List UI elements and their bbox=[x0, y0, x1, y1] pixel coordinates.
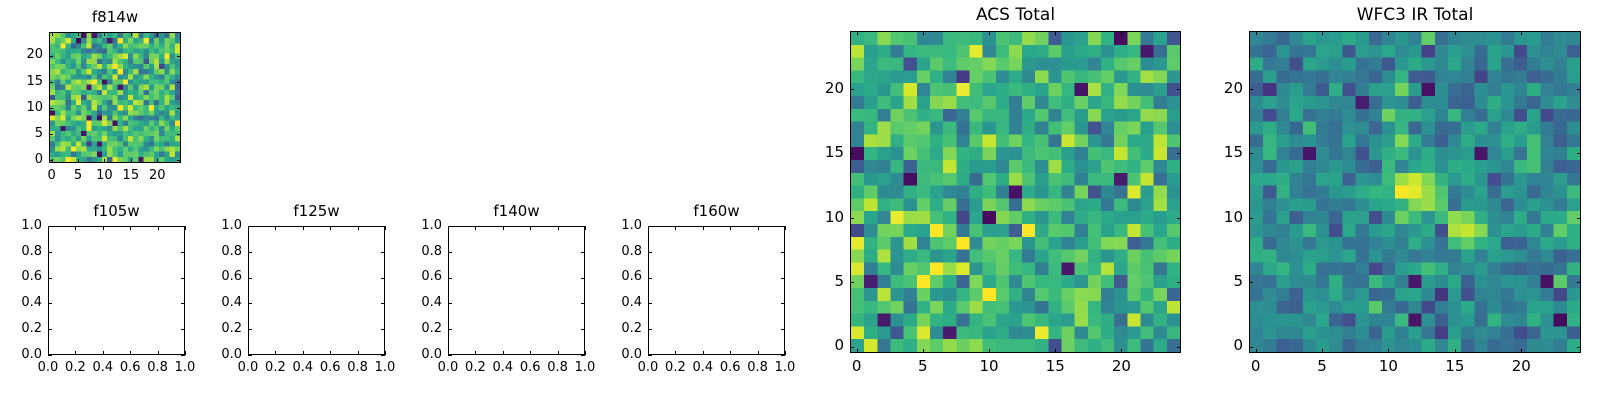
y-tickmark bbox=[381, 329, 385, 330]
y-tick-label: 5 bbox=[0, 127, 43, 140]
y-tickmark bbox=[850, 153, 854, 154]
y-tick-label: 1.0 bbox=[0, 219, 42, 232]
y-tickmark bbox=[648, 252, 652, 253]
y-tickmark bbox=[181, 252, 185, 253]
y-tickmark bbox=[781, 278, 785, 279]
y-tickmark bbox=[177, 82, 181, 83]
y-tick-label: 0.6 bbox=[192, 270, 242, 283]
x-tick-label: 20 bbox=[1496, 359, 1546, 374]
x-tickmark bbox=[475, 351, 476, 355]
x-tickmark bbox=[1322, 31, 1323, 35]
y-tickmark bbox=[381, 278, 385, 279]
x-tickmark bbox=[1521, 349, 1522, 353]
y-tickmark bbox=[49, 108, 53, 109]
y-tickmark bbox=[850, 282, 854, 283]
x-tick-label: 1.0 bbox=[160, 361, 210, 374]
x-tickmark bbox=[475, 226, 476, 230]
x-tickmark bbox=[1388, 349, 1389, 353]
heatmap-image-f814w bbox=[50, 33, 180, 162]
y-tick-label: 1.0 bbox=[192, 219, 242, 232]
x-tickmark bbox=[157, 159, 158, 163]
x-tickmark bbox=[857, 349, 858, 353]
y-tick-label: 15 bbox=[0, 75, 43, 88]
y-tickmark bbox=[48, 252, 52, 253]
y-tick-label: 15 bbox=[1193, 145, 1243, 160]
y-tickmark bbox=[1177, 153, 1181, 154]
subplot-title-f140w: f140w bbox=[448, 204, 585, 219]
x-tickmark bbox=[104, 32, 105, 36]
y-tickmark bbox=[781, 329, 785, 330]
x-tick-label: 10 bbox=[964, 359, 1014, 374]
x-tick-label: 5 bbox=[1297, 359, 1347, 374]
x-tickmark bbox=[503, 226, 504, 230]
y-tick-label: 0.4 bbox=[392, 296, 442, 309]
x-tickmark bbox=[275, 351, 276, 355]
y-tickmark bbox=[181, 226, 185, 227]
y-tickmark bbox=[49, 160, 53, 161]
y-tickmark bbox=[781, 355, 785, 356]
x-tickmark bbox=[385, 351, 386, 355]
y-tickmark bbox=[1577, 153, 1581, 154]
y-tickmark bbox=[1577, 218, 1581, 219]
y-tickmark bbox=[248, 226, 252, 227]
y-tickmark bbox=[48, 355, 52, 356]
x-tickmark bbox=[78, 32, 79, 36]
y-tickmark bbox=[177, 56, 181, 57]
x-tickmark bbox=[330, 351, 331, 355]
y-tickmark bbox=[177, 108, 181, 109]
x-tickmark bbox=[75, 226, 76, 230]
y-tick-label: 0.2 bbox=[392, 322, 442, 335]
heatmap-image-wfc3-ir-total bbox=[1250, 32, 1580, 352]
axes-f160w bbox=[648, 226, 785, 355]
y-tickmark bbox=[48, 226, 52, 227]
x-tickmark bbox=[1121, 31, 1122, 35]
y-tickmark bbox=[850, 347, 854, 348]
subplot-title-f125w: f125w bbox=[248, 204, 385, 219]
subplot-title-f105w: f105w bbox=[48, 204, 185, 219]
y-tickmark bbox=[1249, 89, 1253, 90]
axes-f140w bbox=[448, 226, 585, 355]
y-tickmark bbox=[181, 278, 185, 279]
y-tick-label: 20 bbox=[1193, 81, 1243, 96]
x-tickmark bbox=[104, 159, 105, 163]
y-tickmark bbox=[581, 278, 585, 279]
x-tickmark bbox=[303, 226, 304, 230]
x-tickmark bbox=[52, 32, 53, 36]
y-tick-label: 5 bbox=[1193, 274, 1243, 289]
y-tickmark bbox=[1249, 153, 1253, 154]
x-tickmark bbox=[703, 226, 704, 230]
x-tickmark bbox=[558, 351, 559, 355]
y-tickmark bbox=[448, 355, 452, 356]
y-tick-label: 0.0 bbox=[0, 348, 42, 361]
x-tickmark bbox=[1521, 31, 1522, 35]
y-tickmark bbox=[1577, 347, 1581, 348]
y-tick-label: 10 bbox=[0, 101, 43, 114]
y-tickmark bbox=[850, 218, 854, 219]
y-tickmark bbox=[1577, 89, 1581, 90]
y-tick-label: 0.2 bbox=[192, 322, 242, 335]
axes-f814w bbox=[49, 32, 181, 163]
x-tickmark bbox=[1055, 31, 1056, 35]
y-tickmark bbox=[448, 278, 452, 279]
y-tick-label: 10 bbox=[1193, 210, 1243, 225]
x-tickmark bbox=[158, 226, 159, 230]
y-tickmark bbox=[1249, 347, 1253, 348]
y-tickmark bbox=[181, 303, 185, 304]
y-tickmark bbox=[581, 226, 585, 227]
y-tickmark bbox=[381, 252, 385, 253]
x-tickmark bbox=[185, 226, 186, 230]
x-tickmark bbox=[330, 226, 331, 230]
y-tickmark bbox=[49, 134, 53, 135]
y-tickmark bbox=[781, 252, 785, 253]
y-tickmark bbox=[49, 56, 53, 57]
y-tick-label: 1.0 bbox=[392, 219, 442, 232]
x-tickmark bbox=[385, 226, 386, 230]
y-tickmark bbox=[248, 252, 252, 253]
y-tickmark bbox=[48, 278, 52, 279]
x-tickmark bbox=[675, 351, 676, 355]
y-tickmark bbox=[1177, 218, 1181, 219]
x-tick-label: 1.0 bbox=[760, 361, 810, 374]
y-tick-label: 0.0 bbox=[192, 348, 242, 361]
y-tickmark bbox=[448, 252, 452, 253]
y-tick-label: 0.4 bbox=[192, 296, 242, 309]
x-tickmark bbox=[758, 351, 759, 355]
y-tickmark bbox=[177, 134, 181, 135]
x-tick-label: 10 bbox=[1363, 359, 1413, 374]
y-tick-label: 0 bbox=[794, 338, 844, 353]
y-tickmark bbox=[648, 355, 652, 356]
y-tickmark bbox=[48, 329, 52, 330]
y-tickmark bbox=[581, 329, 585, 330]
x-tickmark bbox=[103, 351, 104, 355]
y-tick-label: 0.8 bbox=[392, 245, 442, 258]
x-tickmark bbox=[1455, 31, 1456, 35]
y-tickmark bbox=[248, 329, 252, 330]
x-tickmark bbox=[503, 351, 504, 355]
y-tickmark bbox=[248, 303, 252, 304]
y-tick-label: 15 bbox=[794, 145, 844, 160]
y-tickmark bbox=[781, 303, 785, 304]
x-tickmark bbox=[1256, 31, 1257, 35]
x-tickmark bbox=[585, 226, 586, 230]
x-tickmark bbox=[78, 159, 79, 163]
x-tickmark bbox=[530, 226, 531, 230]
y-tickmark bbox=[1249, 218, 1253, 219]
x-tickmark bbox=[989, 31, 990, 35]
x-tickmark bbox=[530, 351, 531, 355]
x-tickmark bbox=[75, 351, 76, 355]
y-tickmark bbox=[648, 278, 652, 279]
x-tickmark bbox=[358, 226, 359, 230]
subplot-title-wfc3-ir-total: WFC3 IR Total bbox=[1249, 7, 1581, 24]
x-tick-label: 1.0 bbox=[560, 361, 610, 374]
x-tickmark bbox=[130, 226, 131, 230]
y-tick-label: 0.4 bbox=[592, 296, 642, 309]
heatmap-image-acs-total bbox=[851, 32, 1180, 352]
y-tickmark bbox=[448, 303, 452, 304]
x-tick-label: 1.0 bbox=[360, 361, 410, 374]
y-tick-label: 0.4 bbox=[0, 296, 42, 309]
x-tickmark bbox=[185, 351, 186, 355]
y-tickmark bbox=[181, 355, 185, 356]
y-tick-label: 20 bbox=[0, 48, 43, 61]
x-tickmark bbox=[275, 226, 276, 230]
x-tickmark bbox=[730, 351, 731, 355]
y-tickmark bbox=[648, 226, 652, 227]
subplot-title-f160w: f160w bbox=[648, 204, 785, 219]
y-tick-label: 0.6 bbox=[592, 270, 642, 283]
x-tickmark bbox=[130, 351, 131, 355]
x-tickmark bbox=[157, 32, 158, 36]
axes-f105w bbox=[48, 226, 185, 355]
x-tickmark bbox=[131, 32, 132, 36]
y-tick-label: 0.8 bbox=[192, 245, 242, 258]
x-tickmark bbox=[730, 226, 731, 230]
y-tickmark bbox=[448, 329, 452, 330]
y-tick-label: 0.6 bbox=[392, 270, 442, 283]
y-tickmark bbox=[49, 82, 53, 83]
x-tickmark bbox=[358, 351, 359, 355]
axes-wfc3-ir-total bbox=[1249, 31, 1581, 353]
x-tickmark bbox=[558, 226, 559, 230]
y-tick-label: 0.0 bbox=[592, 348, 642, 361]
y-tickmark bbox=[1577, 282, 1581, 283]
x-tick-label: 20 bbox=[1096, 359, 1146, 374]
x-tick-label: 15 bbox=[1430, 359, 1480, 374]
y-tickmark bbox=[381, 226, 385, 227]
axes-acs-total bbox=[850, 31, 1181, 353]
y-tickmark bbox=[648, 329, 652, 330]
x-tickmark bbox=[785, 226, 786, 230]
y-tickmark bbox=[177, 160, 181, 161]
y-tick-label: 0.0 bbox=[392, 348, 442, 361]
y-tick-label: 20 bbox=[794, 81, 844, 96]
y-tickmark bbox=[381, 303, 385, 304]
y-tickmark bbox=[1249, 282, 1253, 283]
x-tickmark bbox=[585, 351, 586, 355]
y-tick-label: 0.8 bbox=[0, 245, 42, 258]
y-tickmark bbox=[581, 303, 585, 304]
y-tick-label: 10 bbox=[794, 210, 844, 225]
x-tickmark bbox=[303, 351, 304, 355]
x-tickmark bbox=[857, 31, 858, 35]
x-tickmark bbox=[131, 159, 132, 163]
x-tickmark bbox=[1055, 349, 1056, 353]
x-tickmark bbox=[1388, 31, 1389, 35]
y-tickmark bbox=[48, 303, 52, 304]
y-tick-label: 0 bbox=[0, 153, 43, 166]
y-tick-label: 0.6 bbox=[0, 270, 42, 283]
x-tick-label: 0 bbox=[1231, 359, 1281, 374]
y-tick-label: 5 bbox=[794, 274, 844, 289]
x-tickmark bbox=[1322, 349, 1323, 353]
x-tickmark bbox=[923, 31, 924, 35]
y-tickmark bbox=[581, 252, 585, 253]
y-tickmark bbox=[1177, 282, 1181, 283]
y-tickmark bbox=[850, 89, 854, 90]
y-tick-label: 1.0 bbox=[592, 219, 642, 232]
x-tick-label: 20 bbox=[132, 169, 182, 182]
y-tickmark bbox=[1177, 347, 1181, 348]
x-tick-label: 15 bbox=[1030, 359, 1080, 374]
y-tickmark bbox=[248, 278, 252, 279]
x-tickmark bbox=[1455, 349, 1456, 353]
subplot-title-acs-total: ACS Total bbox=[850, 7, 1181, 24]
y-tickmark bbox=[381, 355, 385, 356]
y-tickmark bbox=[181, 329, 185, 330]
x-tickmark bbox=[675, 226, 676, 230]
x-tickmark bbox=[785, 351, 786, 355]
y-tickmark bbox=[581, 355, 585, 356]
x-tickmark bbox=[989, 349, 990, 353]
x-tickmark bbox=[158, 351, 159, 355]
x-tickmark bbox=[923, 349, 924, 353]
y-tick-label: 0.8 bbox=[592, 245, 642, 258]
x-tickmark bbox=[1121, 349, 1122, 353]
subplot-title-f814w: f814w bbox=[49, 10, 181, 25]
y-tickmark bbox=[781, 226, 785, 227]
x-tickmark bbox=[758, 226, 759, 230]
x-tick-label: 5 bbox=[898, 359, 948, 374]
y-tickmark bbox=[248, 355, 252, 356]
x-tickmark bbox=[703, 351, 704, 355]
x-tickmark bbox=[1256, 349, 1257, 353]
x-tick-label: 0 bbox=[832, 359, 882, 374]
axes-f125w bbox=[248, 226, 385, 355]
y-tickmark bbox=[448, 226, 452, 227]
y-tick-label: 0.2 bbox=[0, 322, 42, 335]
y-tick-label: 0 bbox=[1193, 338, 1243, 353]
x-tickmark bbox=[103, 226, 104, 230]
y-tickmark bbox=[648, 303, 652, 304]
y-tickmark bbox=[1177, 89, 1181, 90]
y-tick-label: 0.2 bbox=[592, 322, 642, 335]
